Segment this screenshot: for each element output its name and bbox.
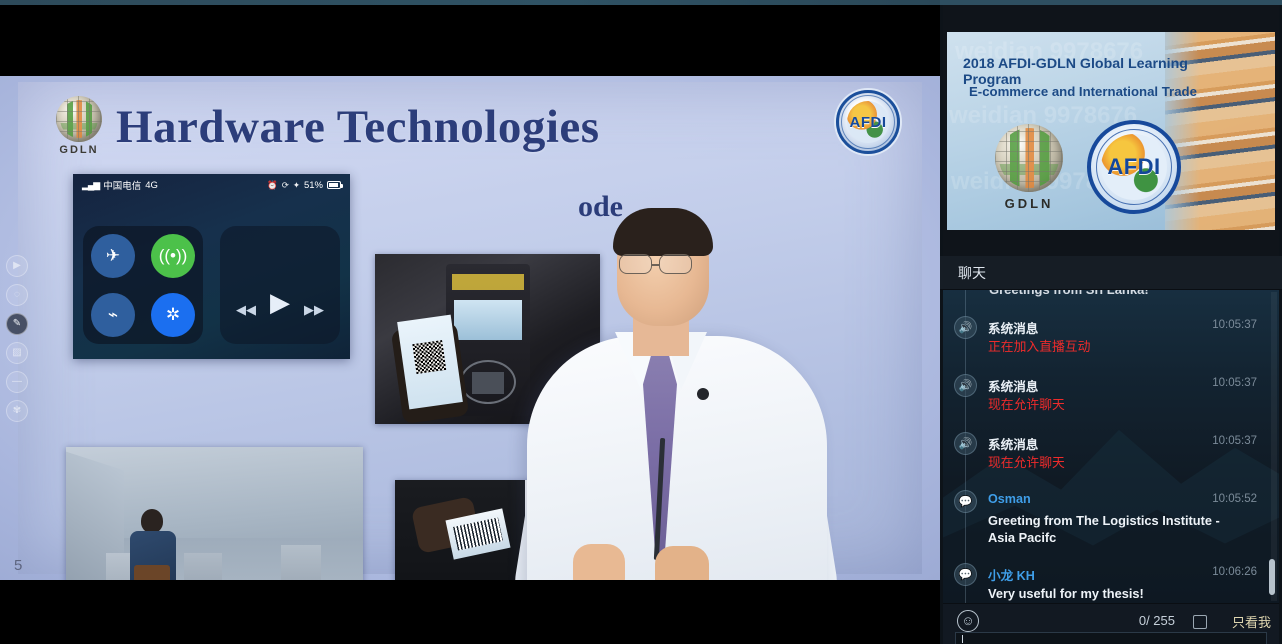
message-icon: 💬 — [954, 490, 977, 513]
chat-composer: ☺ 0/ 255 只看我 — [943, 603, 1279, 644]
globe-icon-large — [995, 124, 1063, 192]
clipped-previous-message: Greetings from Sri Lanka! — [989, 290, 1149, 297]
phone-battery-percent: 51% — [304, 180, 323, 191]
bluetooth-toggle-icon: ✲ — [151, 293, 195, 337]
globe-icon — [56, 96, 102, 142]
message-text: 正在加入直播互动 — [988, 338, 1238, 355]
letterbox-bottom — [0, 580, 940, 644]
qr-code-icon — [412, 340, 446, 374]
program-title-line-2: E-commerce and International Trade — [969, 84, 1229, 99]
slide-number: 5 — [14, 557, 22, 574]
presenter-person — [505, 172, 845, 580]
chat-panel-title: 聊天 — [958, 263, 986, 283]
secondary-letterbox-top — [943, 5, 1279, 32]
secondary-letterbox-bottom — [943, 230, 1279, 256]
pen-tool-icon[interactable]: ✎ — [6, 313, 28, 335]
emoji-picker-icon[interactable]: ☺ — [957, 610, 979, 632]
character-counter: 0/ 255 — [1139, 613, 1175, 628]
cursor-tool-icon[interactable]: ◌ — [6, 284, 28, 306]
message-timestamp: 10:05:52 — [1212, 493, 1257, 505]
phone-status-bar: ▂▄▆ 中国电信 4G ⏰ ⟳ ✦ 51% — [73, 177, 350, 193]
play-icon: ▶ — [270, 287, 290, 318]
eraser-tool-icon[interactable]: ▨ — [6, 342, 28, 364]
text-caret — [962, 635, 963, 643]
control-center-media: ◀◀ ▶ ▶▶ — [220, 226, 340, 344]
message-text: 现在允许聊天 — [988, 454, 1238, 471]
presentation-title-card: weidian 9978676 weidian 9978676 weidian … — [947, 32, 1275, 230]
chat-panel-header: 聊天 — [940, 256, 1282, 290]
only-me-checkbox[interactable] — [1193, 615, 1207, 629]
message-timestamp: 10:05:37 — [1212, 377, 1257, 389]
phone-network: 4G — [145, 180, 158, 191]
gdln-logo-large: GDLN — [991, 124, 1067, 211]
main-video-stage[interactable]: GDLN Hardware Technologies ode AFDI ▂▄▆ … — [0, 0, 940, 644]
webinar-player-window: GDLN Hardware Technologies ode AFDI ▂▄▆ … — [0, 0, 1282, 644]
message-author: 系统消息 — [988, 434, 1038, 453]
annotation-toolbar[interactable]: ▶ ◌ ✎ ▨ — ✾ — [4, 255, 30, 422]
message-author: 系统消息 — [988, 376, 1038, 395]
message-author: 系统消息 — [988, 318, 1038, 337]
secondary-video-panel[interactable]: weidian 9978676 weidian 9978676 weidian … — [943, 5, 1279, 256]
right-sidebar: weidian 9978676 weidian 9978676 weidian … — [940, 0, 1282, 644]
prev-track-icon: ◀◀ — [236, 302, 256, 318]
rotation-lock-icon: ⟳ — [282, 180, 289, 191]
letterbox-top — [0, 5, 940, 76]
gdln-logo: GDLN — [50, 96, 108, 156]
projected-slide: GDLN Hardware Technologies ode AFDI ▂▄▆ … — [0, 76, 940, 580]
chat-scrollbar-thumb[interactable] — [1269, 559, 1275, 595]
next-track-icon: ▶▶ — [304, 302, 324, 318]
bluetooth-icon: ✦ — [293, 180, 300, 191]
message-timestamp: 10:05:37 — [1212, 319, 1257, 331]
afdi-logo-label: AFDI — [850, 114, 887, 131]
afdi-label-large: AFDI — [1107, 154, 1160, 180]
message-author: Osman — [988, 492, 1031, 506]
speaker-icon: 🔊 — [954, 432, 977, 455]
only-me-label[interactable]: 只看我 — [1232, 612, 1271, 631]
lapel-mic-icon — [697, 388, 709, 400]
wifi-off-icon: ⌁ — [91, 293, 135, 337]
message-icon: 💬 — [954, 563, 977, 586]
chat-message-list[interactable]: Greetings from Sri Lanka! 🔊 系统消息 10:05:3… — [943, 290, 1279, 603]
airplane-mode-icon: ✈ — [91, 234, 135, 278]
glasses-icon — [619, 254, 652, 274]
cellular-data-icon: ((•)) — [151, 234, 195, 278]
photo-subway-turnstile — [66, 447, 363, 580]
signal-bars-icon: ▂▄▆ — [82, 180, 99, 191]
message-timestamp: 10:06:26 — [1212, 566, 1257, 578]
message-author: 小龙 KH — [988, 565, 1035, 584]
message-text: 现在允许聊天 — [988, 396, 1238, 413]
slide-title: Hardware Technologies — [116, 100, 816, 154]
alarm-icon: ⏰ — [267, 180, 278, 191]
message-text: Very useful for my thesis! — [988, 585, 1238, 602]
chat-scrollbar-track[interactable] — [1271, 292, 1277, 601]
speaker-icon: 🔊 — [954, 316, 977, 339]
phone-control-center-image: ▂▄▆ 中国电信 4G ⏰ ⟳ ✦ 51% ✈ ((•)) ⌁ — [73, 174, 350, 359]
afdi-logo-large: AFDI — [1087, 120, 1181, 214]
control-center-toggles: ✈ ((•)) ⌁ ✲ — [83, 226, 203, 344]
line-tool-icon[interactable]: — — [6, 371, 28, 393]
chat-input-field[interactable] — [955, 632, 1267, 644]
gdln-label-large: GDLN — [991, 196, 1067, 211]
speaker-icon: 🔊 — [954, 374, 977, 397]
afdi-logo: AFDI — [836, 90, 900, 154]
phone-carrier: 中国电信 — [103, 178, 141, 192]
message-text: Greeting from The Logistics Institute - … — [988, 512, 1238, 546]
battery-icon — [327, 181, 341, 189]
play-tool-icon[interactable]: ▶ — [6, 255, 28, 277]
message-timestamp: 10:05:37 — [1212, 435, 1257, 447]
settings-tool-icon[interactable]: ✾ — [6, 400, 28, 422]
gdln-logo-label: GDLN — [50, 144, 108, 156]
